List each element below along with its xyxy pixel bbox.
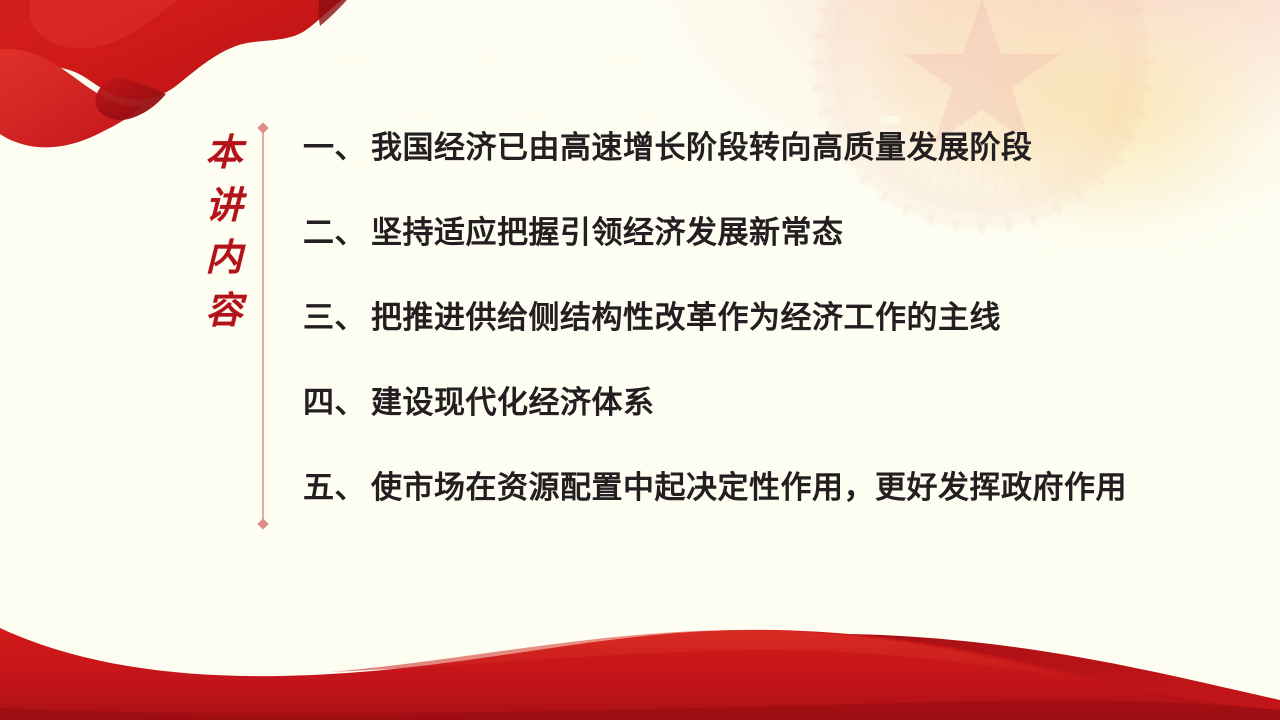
section-vertical-title: 本 讲 内 容 [196, 128, 252, 338]
list-item-text: 使市场在资源配置中起决定性作用，更好发挥政府作用 [371, 470, 1127, 505]
vertical-title-char-2: 讲 [196, 181, 252, 234]
list-item[interactable]: 四、建设现代化经济体系 [303, 387, 1263, 472]
list-item-number: 五、 [303, 472, 371, 503]
list-item-text: 建设现代化经济体系 [371, 385, 655, 420]
vertical-title-char-1: 本 [196, 128, 252, 181]
divider-bottom-diamond-icon [257, 518, 268, 529]
divider-top-diamond-icon [257, 122, 268, 133]
list-item[interactable]: 一、我国经济已由高速增长阶段转向高质量发展阶段 [303, 132, 1263, 217]
vertical-title-char-4: 容 [196, 286, 252, 339]
list-item-number: 一、 [303, 132, 371, 163]
list-item-number: 四、 [303, 387, 371, 418]
vertical-title-char-3: 内 [196, 233, 252, 286]
list-item-text: 我国经济已由高速增长阶段转向高质量发展阶段 [371, 130, 1033, 165]
list-item-number: 二、 [303, 217, 371, 248]
list-item[interactable]: 三、把推进供给侧结构性改革作为经济工作的主线 [303, 302, 1263, 387]
list-item[interactable]: 五、使市场在资源配置中起决定性作用，更好发挥政府作用 [303, 472, 1263, 557]
outline-list: 一、我国经济已由高速增长阶段转向高质量发展阶段 二、坚持适应把握引领经济发展新常… [303, 132, 1263, 557]
vertical-divider-line [262, 128, 264, 524]
slide-content: 本 讲 内 容 一、我国经济已由高速增长阶段转向高质量发展阶段 二、坚持适应把握… [0, 0, 1280, 720]
list-item[interactable]: 二、坚持适应把握引领经济发展新常态 [303, 217, 1263, 302]
list-item-text: 把推进供给侧结构性改革作为经济工作的主线 [371, 300, 1001, 335]
list-item-number: 三、 [303, 302, 371, 333]
slide-canvas: 本 讲 内 容 一、我国经济已由高速增长阶段转向高质量发展阶段 二、坚持适应把握… [0, 0, 1280, 720]
list-item-text: 坚持适应把握引领经济发展新常态 [371, 215, 844, 250]
